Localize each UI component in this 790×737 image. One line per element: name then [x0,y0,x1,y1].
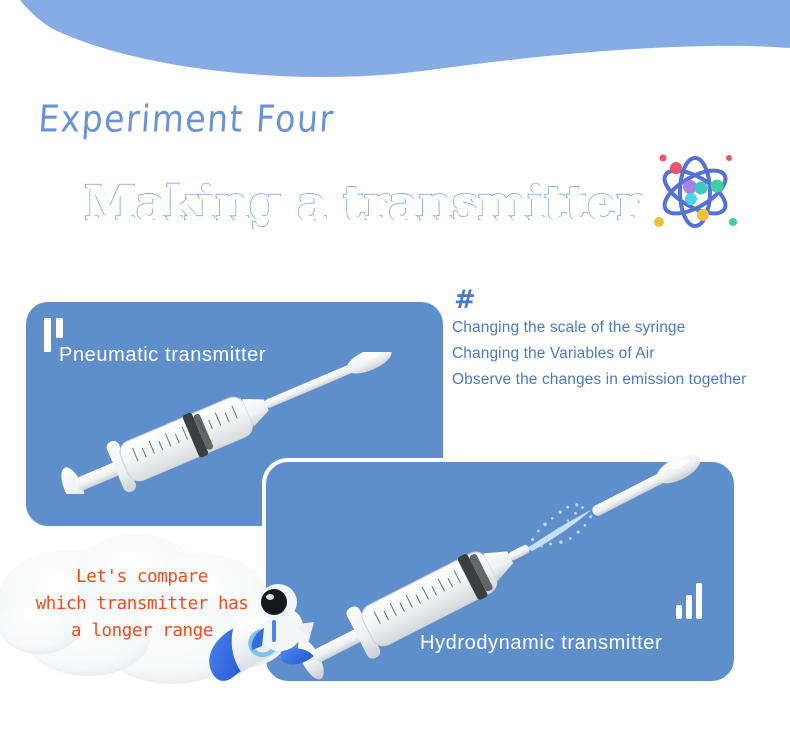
eyebrow-heading: Experiment Four [37,97,336,141]
note-line-2: Changing the Variables of Air [452,345,788,363]
page-title-text: Making a transmitter [84,176,640,231]
syringe-hydrodynamic-illustration [268,440,728,688]
atom-icon [645,142,745,242]
note-line-3: Observe the changes in emission together [452,371,788,389]
hash-marker: # [454,287,788,313]
note-line-1: Changing the scale of the syringe [452,319,788,337]
slide-canvas: Experiment Four Making a transmitter Pne… [0,0,790,737]
notes-block: # Changing the scale of the syringe Chan… [452,287,788,397]
page-title: Making a transmitter [84,176,640,231]
astronaut-on-rocket-icon [196,578,318,704]
header-wave-decoration [0,0,790,90]
